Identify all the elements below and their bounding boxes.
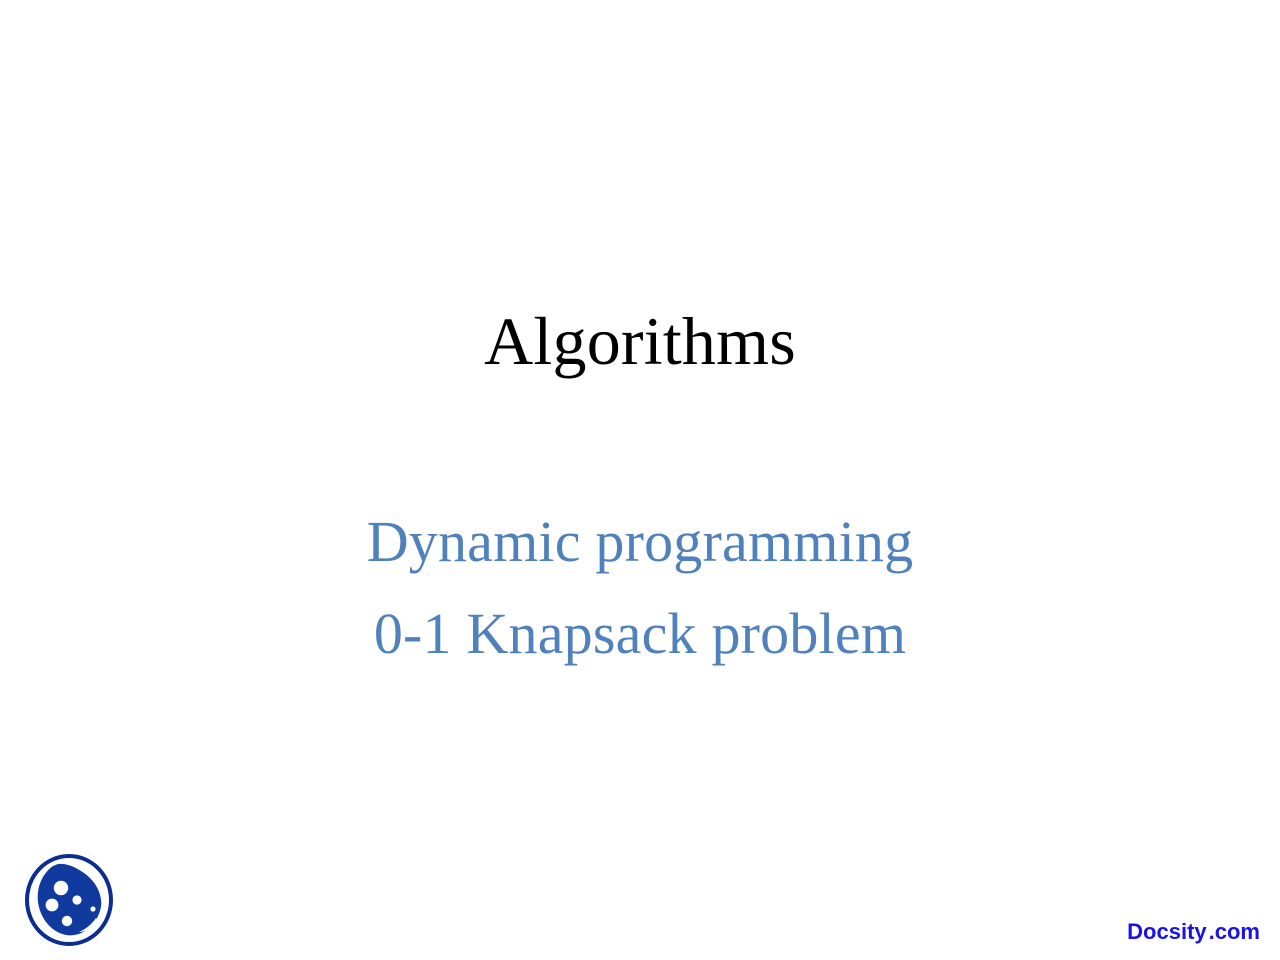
presentation-slide: Algorithms Dynamic programming 0-1 Knaps… xyxy=(0,0,1280,960)
logo-dot-2 xyxy=(46,899,59,912)
logo-dot-5 xyxy=(62,916,72,926)
logo-dot-3 xyxy=(72,895,81,904)
subtitle-line-1: Dynamic programming xyxy=(0,496,1280,588)
page-title: Algorithms xyxy=(0,305,1280,378)
logo-dot-1 xyxy=(54,881,68,895)
watermark-brand: Docsity xyxy=(1127,919,1206,944)
watermark-tld: .com xyxy=(1209,919,1260,944)
docsity-watermark: Docsity.com xyxy=(1127,921,1260,943)
docsity-cookie-icon xyxy=(22,852,116,948)
subtitle-block: Dynamic programming 0-1 Knapsack problem xyxy=(0,496,1280,679)
logo-dot-4 xyxy=(90,906,95,911)
subtitle-line-2: 0-1 Knapsack problem xyxy=(0,588,1280,680)
title-block: Algorithms xyxy=(0,305,1280,378)
docsity-logo xyxy=(22,852,116,948)
